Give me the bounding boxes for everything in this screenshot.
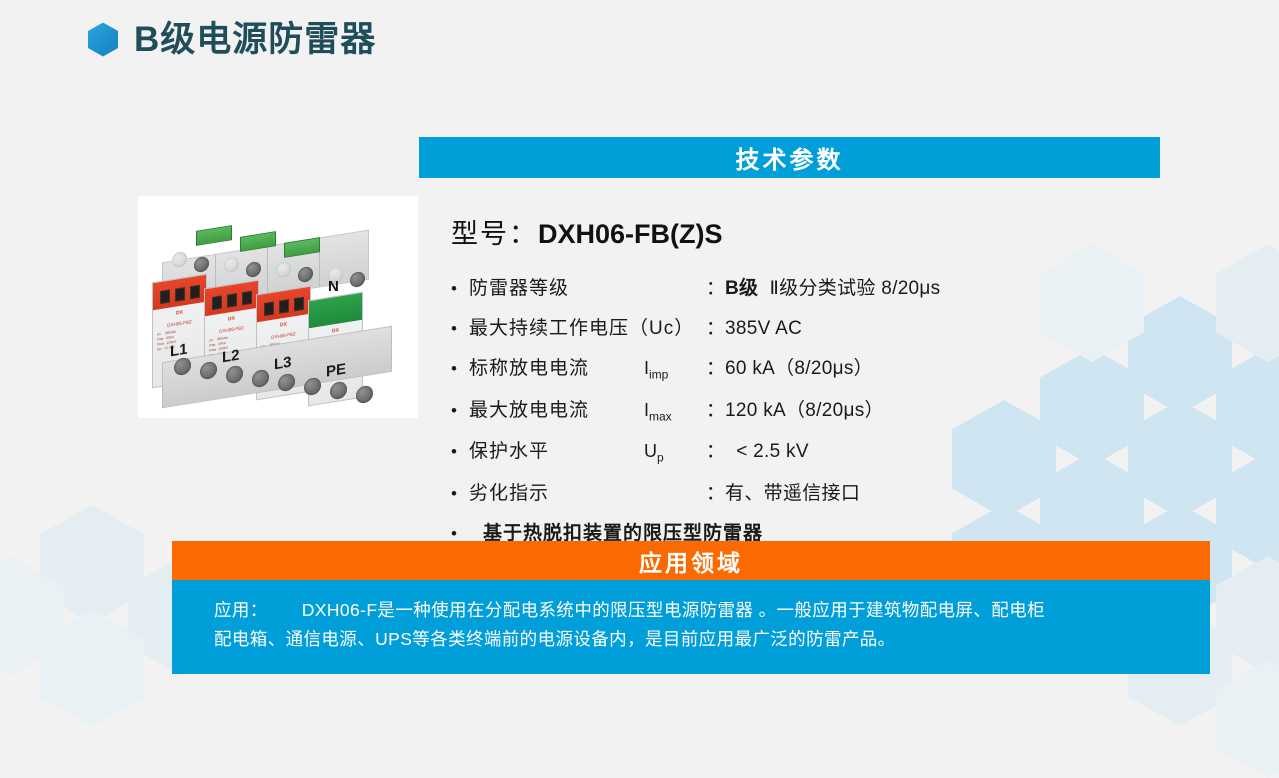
spec-symbol: Iimp [644,358,706,382]
bullet-icon: • [451,320,469,337]
hexagon-watermark [40,609,144,727]
application-header: 应用领域 [172,541,1210,580]
spec-label: 劣化指示 [469,478,644,505]
spec-colon: ： [706,313,725,340]
spec-symbol-subscript: p [657,451,664,465]
screw-icon [350,271,365,288]
spec-row-indicator: • 劣化指示 ： 有、带遥信接口 [451,478,1160,505]
hexagon-watermark [0,557,64,675]
spec-colon: ： [706,478,725,505]
pole-label-pe: PE [326,360,346,380]
pole-label-l1: L1 [170,341,188,361]
page-header: B级电源防雷器 [88,22,376,57]
application-line-2: 配电箱、通信电源、UPS等各类终端前的电源设备内，是目前应用最广泛的防雷产品。 [214,625,1186,654]
page-title: B级电源防雷器 [134,22,376,57]
spec-symbol: Imax [644,400,706,424]
spec-value: 385V AC [725,318,802,340]
application-lead-label: 应用： [214,600,268,620]
model-label: 型号： [451,219,538,249]
pole-label-l2: L2 [222,347,240,367]
technical-parameters-body: 型号：DXH06-FB(Z)S • 防雷器等级 ： B级 Ⅱ级分类试验 8/20… [419,178,1160,545]
spec-row-iimp: • 标称放电电流 Iimp ： 60 kA（8/20μs） [451,353,1160,382]
application-panel: 应用领域 应用：DXH06-F是一种使用在分配电系统中的限压型电源防雷器 。一般… [172,541,1210,674]
spec-symbol-subscript: max [649,409,672,423]
application-body: 应用：DXH06-F是一种使用在分配电系统中的限压型电源防雷器 。一般应用于建筑… [172,580,1210,674]
spec-value: 有、带遥信接口 [725,478,860,505]
spec-label: 保护水平 [469,436,644,463]
spec-label: 标称放电电流 [469,353,644,380]
spec-value-rest: < 2.5 kV [736,441,809,462]
spec-value: 60 kA（8/20μs） [725,353,873,380]
spec-symbol: Up [644,441,706,465]
bullet-icon: • [451,280,469,297]
spec-label: 防雷器等级 [469,273,644,300]
bullet-icon: • [451,360,469,377]
neutral-pole-label: N [328,278,339,295]
spec-value-rest: Ⅱ级分类试验 8/20μs [770,278,941,299]
spec-list: • 防雷器等级 ： B级 Ⅱ级分类试验 8/20μs • 最大持续工作电压（Uc… [451,273,1160,545]
bullet-icon: • [451,485,469,502]
spec-row-uc: • 最大持续工作电压（Uc） ： 385V AC [451,313,1160,340]
spd-device-illustration: N DX DXH06-FBZ Uc 385Vac Iimp 60kA Imax … [152,216,404,402]
hexagon-watermark [1216,244,1279,362]
spec-value: < 2.5 kV [725,441,809,463]
pole-label-l3: L3 [274,354,292,374]
bullet-icon: • [451,402,469,419]
spec-colon: ： [706,353,725,380]
hexagon-watermark [1216,660,1279,778]
hexagon-icon [88,23,118,57]
technical-parameters-header: 技术参数 [419,137,1160,178]
hexagon-watermark [1216,348,1279,466]
spec-colon: ： [706,395,725,422]
spec-value-bold: B级 [725,278,758,299]
spec-label: 最大持续工作电压（Uc） [469,313,706,340]
technical-parameters-panel: 技术参数 型号：DXH06-FB(Z)S • 防雷器等级 ： B级 Ⅱ级分类试验… [419,137,1160,558]
model-value: DXH06-FB(Z)S [538,219,723,249]
spec-symbol-subscript: imp [649,368,668,382]
model-line: 型号：DXH06-FB(Z)S [451,212,1160,251]
hexagon-watermark [1216,452,1279,570]
screw-icon [356,385,373,405]
spec-row-grade: • 防雷器等级 ： B级 Ⅱ级分类试验 8/20μs [451,273,1160,300]
spec-colon: ： [706,436,725,463]
bullet-icon: • [451,525,469,542]
spec-value: 120 kA（8/20μs） [725,395,884,422]
bullet-icon: • [451,443,469,460]
spec-value: B级 Ⅱ级分类试验 8/20μs [725,273,940,300]
spec-row-up: • 保护水平 Up ： < 2.5 kV [451,436,1160,465]
application-line-1: DXH06-F是一种使用在分配电系统中的限压型电源防雷器 。一般应用于建筑物配电… [302,600,1045,620]
spec-row-imax: • 最大放电电流 Imax ： 120 kA（8/20μs） [451,395,1160,424]
terminal-block [196,225,232,246]
spec-label: 最大放电电流 [469,395,644,422]
product-image: N DX DXH06-FBZ Uc 385Vac Iimp 60kA Imax … [138,196,418,418]
hexagon-watermark [40,505,144,623]
hexagon-watermark [1216,556,1279,674]
spec-colon: ： [706,273,725,300]
